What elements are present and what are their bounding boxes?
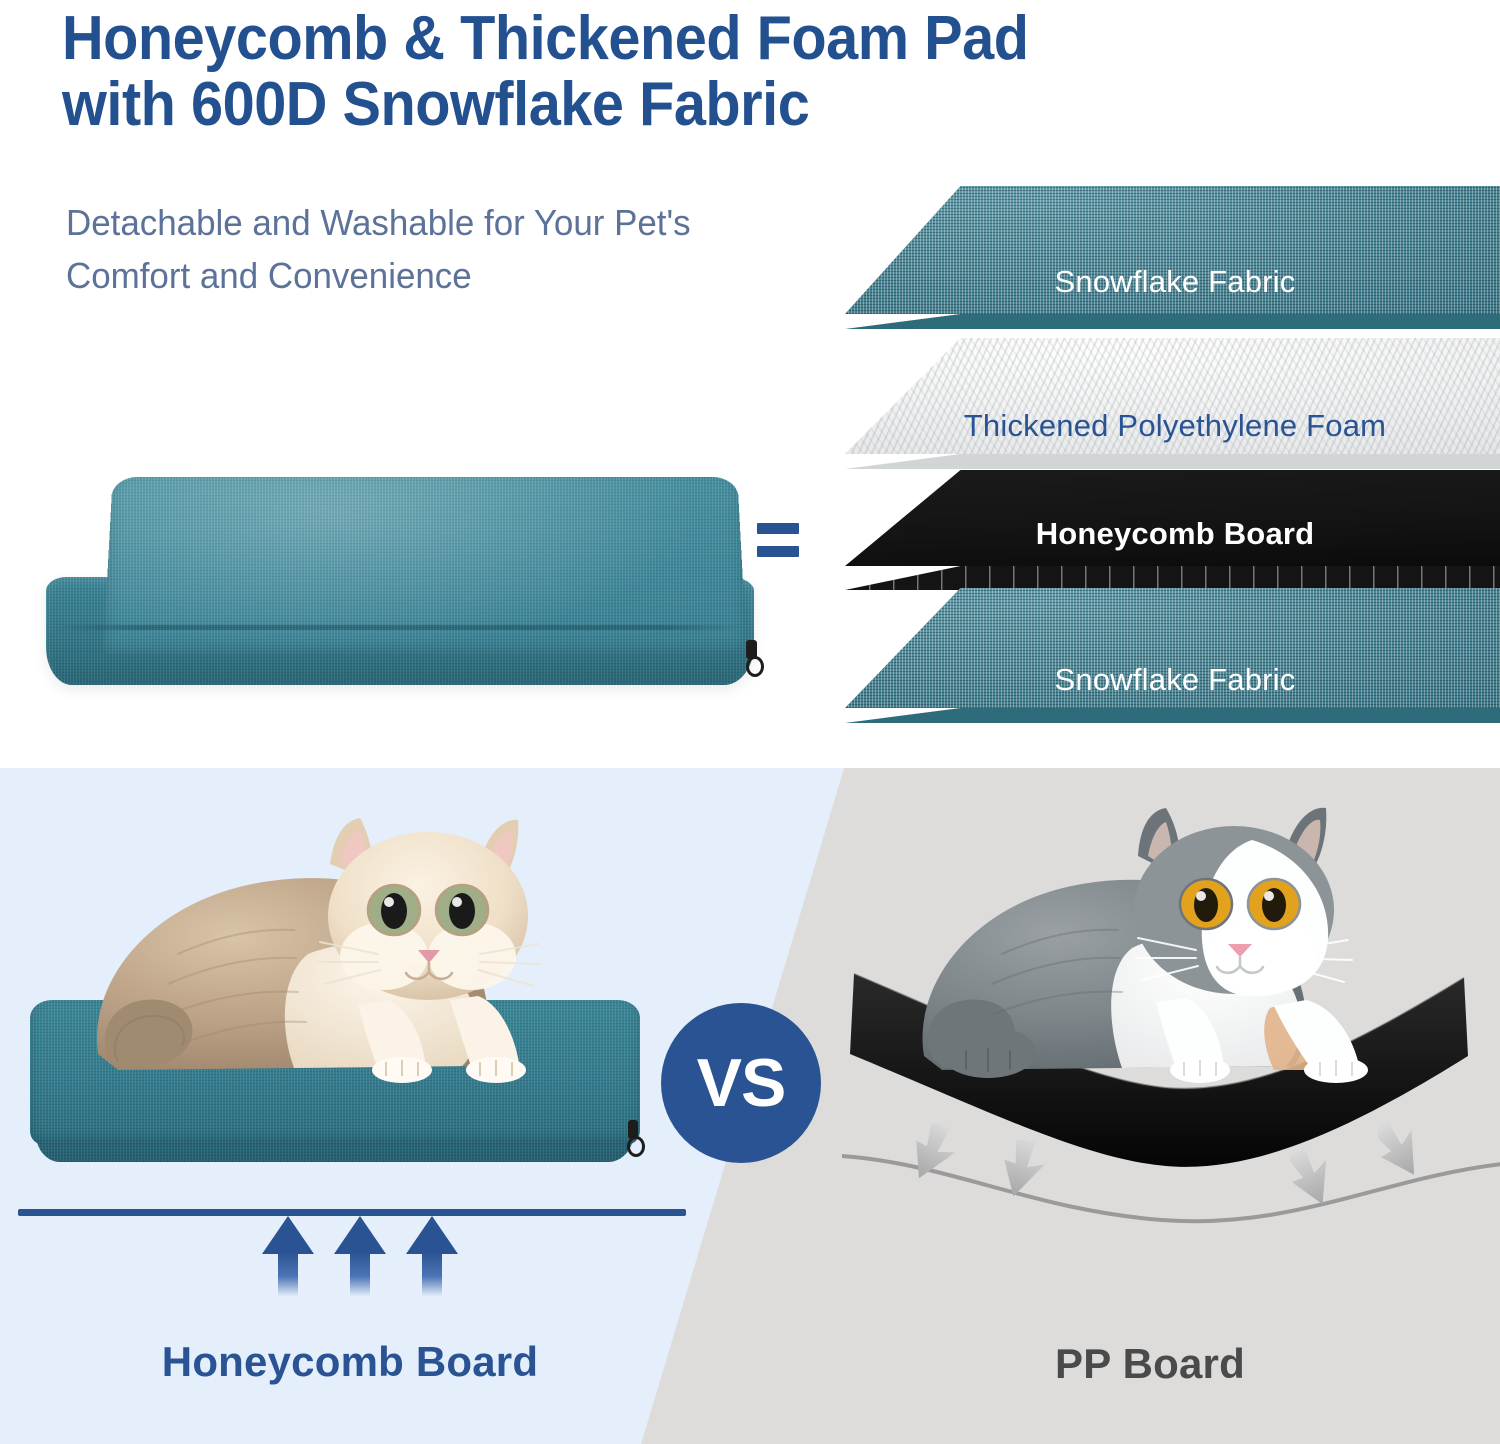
layer-polyethylene-foam: Thickened Polyethylene Foam xyxy=(845,338,1500,454)
product-cushion-image xyxy=(20,455,800,720)
layer-label: Snowflake Fabric xyxy=(845,264,1500,300)
equals-sign-icon xyxy=(757,523,799,559)
cat-on-honeycomb-board xyxy=(58,804,628,1104)
zipper-pull-icon xyxy=(628,1120,640,1154)
vs-badge-label: VS xyxy=(697,1049,786,1117)
honeycomb-board-label: Honeycomb Board xyxy=(0,1338,700,1386)
layer-edge xyxy=(845,454,1500,469)
layer-label: Snowflake Fabric xyxy=(845,662,1500,698)
flat-support-line xyxy=(18,1209,686,1216)
arrow-up-icon xyxy=(406,1216,458,1294)
layer-label: Honeycomb Board xyxy=(845,516,1500,552)
layer-edge-flutes xyxy=(845,566,1500,590)
page-title: Honeycomb & Thickened Foam Pad with 600D… xyxy=(62,6,1364,138)
hero-section: Honeycomb & Thickened Foam Pad with 600D… xyxy=(0,0,1500,768)
layer-snowflake-fabric-bottom: Snowflake Fabric xyxy=(845,588,1500,708)
upward-force-arrows xyxy=(262,1216,462,1298)
arrow-up-icon xyxy=(334,1216,386,1294)
layer-stack-diagram: Snowflake Fabric Thickened Polyethylene … xyxy=(845,170,1500,690)
cushion-fabric-texture xyxy=(46,475,754,685)
page-subtitle: Detachable and Washable for Your Pet's C… xyxy=(66,196,900,302)
pp-board-label: PP Board xyxy=(800,1340,1500,1388)
arrow-up-icon xyxy=(262,1216,314,1294)
layer-honeycomb-board: Honeycomb Board xyxy=(845,470,1500,566)
cat-on-pp-board xyxy=(870,798,1450,1098)
layer-edge xyxy=(845,314,1500,329)
layer-edge xyxy=(845,708,1500,723)
zipper-pull-icon xyxy=(746,640,758,672)
layer-snowflake-fabric-top: Snowflake Fabric xyxy=(845,186,1500,314)
vs-badge: VS xyxy=(661,1003,821,1163)
infographic-page: Honeycomb & Thickened Foam Pad with 600D… xyxy=(0,0,1500,1444)
sagging-support-line xyxy=(842,1138,1500,1248)
layer-label: Thickened Polyethylene Foam xyxy=(845,408,1500,444)
